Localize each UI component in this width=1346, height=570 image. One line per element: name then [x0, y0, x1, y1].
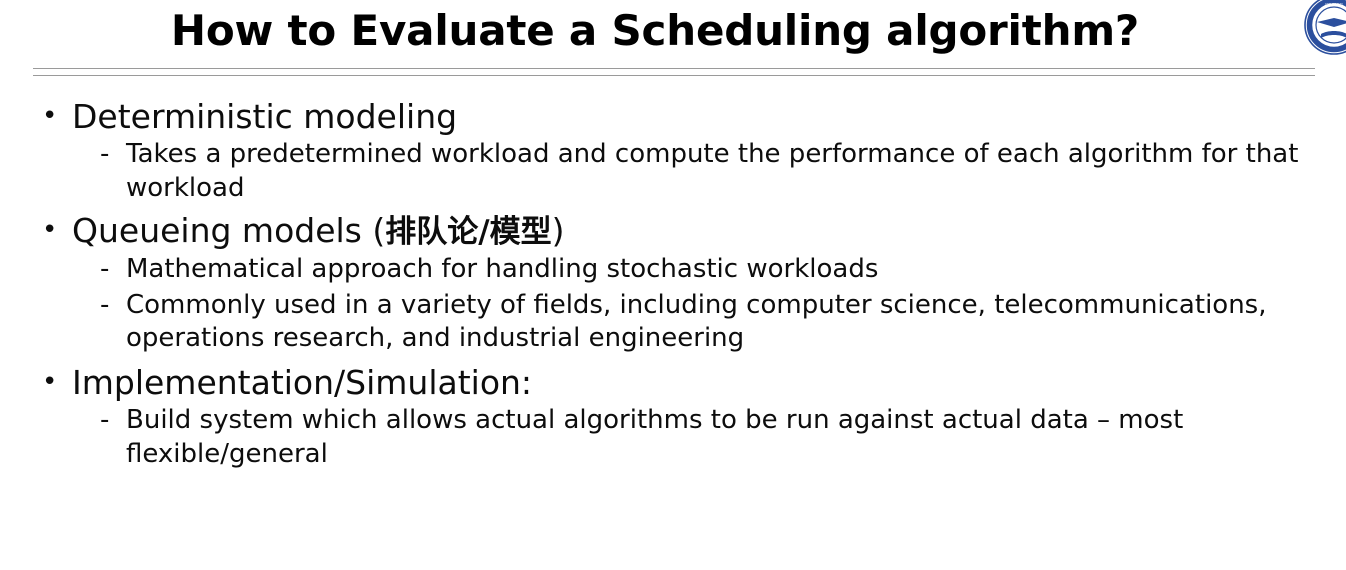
- sub-bullet-label: Commonly used in a variety of fields, in…: [126, 289, 1346, 357]
- sub-bullet-item: -Build system which allows actual algori…: [0, 404, 1346, 472]
- sub-bullet-label: Build system which allows actual algorit…: [126, 404, 1346, 472]
- bullet-label: Queueing models (: [72, 211, 385, 250]
- bullet-icon: •: [42, 364, 57, 401]
- bullet-item-deterministic-modeling: •Deterministic modeling: [0, 98, 1346, 136]
- title-divider-bottom: [33, 75, 1315, 76]
- bullet-label: Implementation/Simulation:: [72, 363, 532, 402]
- slide: How to Evaluate a Scheduling algorithm? …: [0, 0, 1346, 570]
- dash-icon: -: [100, 289, 109, 323]
- sub-bullet-label: Takes a predetermined workload and compu…: [126, 138, 1346, 206]
- dash-icon: -: [100, 404, 109, 438]
- university-seal-logo: UNIVERSITY: [1303, 0, 1346, 56]
- sub-bullet-item: -Mathematical approach for handling stoc…: [0, 253, 1346, 287]
- bullet-item-queueing-models: •Queueing models (排队论/模型): [0, 212, 1346, 251]
- title-divider-top: [33, 68, 1315, 69]
- dash-icon: -: [100, 253, 109, 287]
- sub-bullet-label: Mathematical approach for handling stoch…: [126, 253, 1346, 287]
- sub-bullet-item: -Takes a predetermined workload and comp…: [0, 138, 1346, 206]
- bullet-icon: •: [42, 98, 57, 135]
- svg-text:UNIVERSITY: UNIVERSITY: [1325, 2, 1343, 6]
- bullet-item-implementation-simulation: •Implementation/Simulation:: [0, 364, 1346, 402]
- bullet-label-tail: ): [552, 211, 565, 250]
- dash-icon: -: [100, 138, 109, 172]
- bullet-label: Deterministic modeling: [72, 97, 457, 136]
- bullet-label-cjk: 排队论/模型: [385, 214, 551, 250]
- title-block: How to Evaluate a Scheduling algorithm?: [0, 0, 1346, 86]
- sub-bullet-item: -Commonly used in a variety of fields, i…: [0, 289, 1346, 357]
- page-title: How to Evaluate a Scheduling algorithm?: [0, 8, 1310, 54]
- slide-body: •Deterministic modeling -Takes a predete…: [0, 98, 1346, 474]
- bullet-icon: •: [42, 212, 57, 249]
